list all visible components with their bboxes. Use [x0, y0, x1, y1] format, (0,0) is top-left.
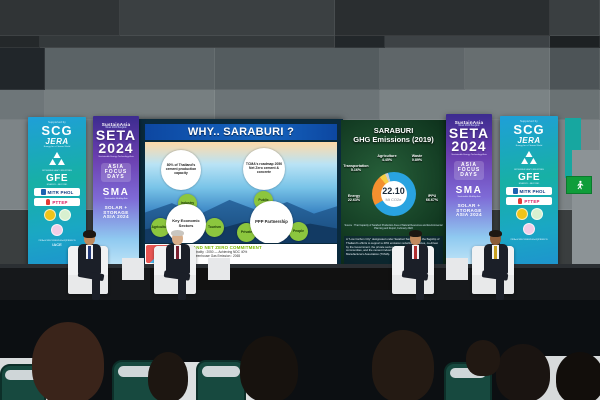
partner-seals-row-right: [500, 208, 558, 220]
sma-subtitle: Sustainable Mobility Asia: [93, 198, 139, 200]
solar-storage-line3-right: ASIA 2024: [446, 213, 492, 218]
pttep-logo-right: PTTEP: [506, 197, 552, 205]
scg-logo-right: SCG: [500, 123, 558, 136]
panelist-1: [72, 228, 118, 300]
wall-pillar: [572, 150, 600, 270]
side-table-2: [208, 258, 230, 280]
pttep-mark-icon: [46, 199, 50, 205]
callout-bubble-cement-capacity: 80% of Thailand's cement production capa…: [161, 150, 201, 190]
panelist-2-tie: [176, 246, 179, 259]
asia-focus-days-box: ASIA FOCUS DAYS: [101, 163, 130, 182]
mitsubishi-label: MITSUBISHI HEAVY INDUSTRIES: [28, 170, 86, 172]
panelist-4: [478, 228, 526, 300]
panelist-4-tie: [494, 246, 497, 259]
conference-photo-scene: WHY.. SARABURI ? 80% of Thailand's cemen…: [0, 0, 600, 400]
asia-focus-line3-right: DAYS: [454, 173, 483, 178]
mitr-phol-mark-icon: [41, 189, 46, 195]
panelist-3-tie: [414, 246, 417, 259]
partner-seals-row: [28, 209, 86, 221]
sma-logo-right: SMA: [446, 186, 492, 196]
mitr-phol-logo-right: MITR PHOL: [506, 187, 552, 195]
panelist-2: [160, 228, 208, 300]
panelist-1-hair: [83, 230, 96, 238]
mitr-phol-logo: MITR PHOL: [34, 188, 80, 196]
donut-total-unit: Mt CO2e: [385, 197, 401, 202]
chart-label-agriculture: Agriculture 4.45%: [375, 154, 399, 163]
organization-seal-icon-right: [531, 208, 543, 220]
chart-label-transportation: Transportation 5.16%: [342, 164, 370, 173]
cluster-center-ppp-partnership: PPP Partnership: [250, 201, 293, 243]
pttep-logo: PTTEP: [34, 198, 80, 206]
government-seal-icon: [44, 209, 56, 221]
government-seal-icon-right: [516, 208, 528, 220]
panelist-2-hair: [171, 230, 184, 236]
seta-subtitle: Sustainable Energy Technology Asia: [93, 156, 139, 158]
audience-head-3: [372, 330, 434, 400]
chart-label-waste: Waste 0.89%: [407, 154, 427, 163]
callout-bubble-tcma-roadmap: TCMA's roadmap 2050 Net Zero cement & co…: [243, 148, 285, 190]
audience-head-stage-right: [466, 340, 500, 376]
asia-focus-days-box-right: ASIA FOCUS DAYS: [454, 161, 483, 180]
mitsubishi-label-right: MITSUBISHI HEAVY INDUSTRIES: [500, 169, 558, 171]
audience-head-5: [556, 352, 600, 400]
gfe-tagline-right: ENERGY • BEYOND: [500, 183, 558, 185]
panelist-2-leg-2: [178, 278, 186, 300]
chart-label-energy: Energy 22.63%: [343, 194, 365, 203]
panelist-3: [398, 228, 446, 300]
chart-title-line1: SARABURI: [374, 126, 414, 135]
panelist-4-hair: [489, 230, 502, 237]
donut-center-label: 22.10 Mt CO2e: [372, 172, 416, 216]
sustainasia-brand: SustainAsia: [93, 116, 139, 127]
scg-logo: SCG: [28, 124, 86, 137]
gfe-logo: GFE: [28, 174, 86, 184]
chart-title-line2: GHG Emissions (2019): [353, 135, 433, 144]
donut-total-value: 22.10: [382, 187, 405, 196]
audience-chair-3: [196, 360, 246, 400]
mitsubishi-logo-icon-right: [520, 150, 538, 164]
mitsubishi-logo-icon: [48, 151, 66, 165]
gfe-tagline: ENERGY • BEYOND: [28, 184, 86, 186]
sustainasia-brand-right: SustainAsia: [446, 114, 492, 125]
jera-tagline-right: Energy for a Cleaner World: [500, 145, 558, 147]
mitr-phol-mark-icon-right: [513, 188, 518, 194]
asia-focus-line3: DAYS: [101, 175, 130, 180]
audience-head-6: [148, 352, 188, 400]
pttep-mark-icon-right: [518, 198, 522, 204]
association-seal-icon: [51, 224, 63, 236]
panelist-4-leg-2: [496, 278, 504, 300]
audience-head-4: [496, 344, 550, 400]
jera-logo: JERA: [28, 137, 86, 146]
panelist-1-tie: [88, 246, 91, 259]
panelist-3-leg-2: [416, 278, 424, 300]
audience-head-1: [32, 322, 104, 400]
chart-label-ippu: IPPU 66.67%: [421, 194, 443, 203]
seta-year-right: 2024: [446, 140, 492, 153]
organization-seal-icon: [59, 209, 71, 221]
chart-title: SARABURI GHG Emissions (2019): [341, 126, 446, 145]
gfe-logo-right: GFE: [500, 173, 558, 183]
panelist-1-leg-2: [92, 278, 100, 300]
seta-year: 2024: [93, 142, 139, 155]
side-table-3: [446, 258, 468, 280]
audience-head-2: [240, 336, 298, 400]
jera-logo-right: JERA: [500, 136, 558, 145]
side-table-1: [122, 258, 144, 280]
emergency-exit-sign: [566, 176, 592, 194]
solar-storage-line3: ASIA 2024: [93, 215, 139, 220]
panelist-3-hair: [409, 230, 422, 237]
slide-title: WHY.. SARABURI ?: [145, 124, 337, 140]
seta-subtitle-right: Sustainable Energy Technology Asia: [446, 154, 492, 156]
sma-logo: SMA: [93, 188, 139, 198]
sma-subtitle-right: Sustainable Mobility Asia: [446, 196, 492, 198]
jera-tagline: Energy for a Cleaner World: [28, 146, 86, 148]
